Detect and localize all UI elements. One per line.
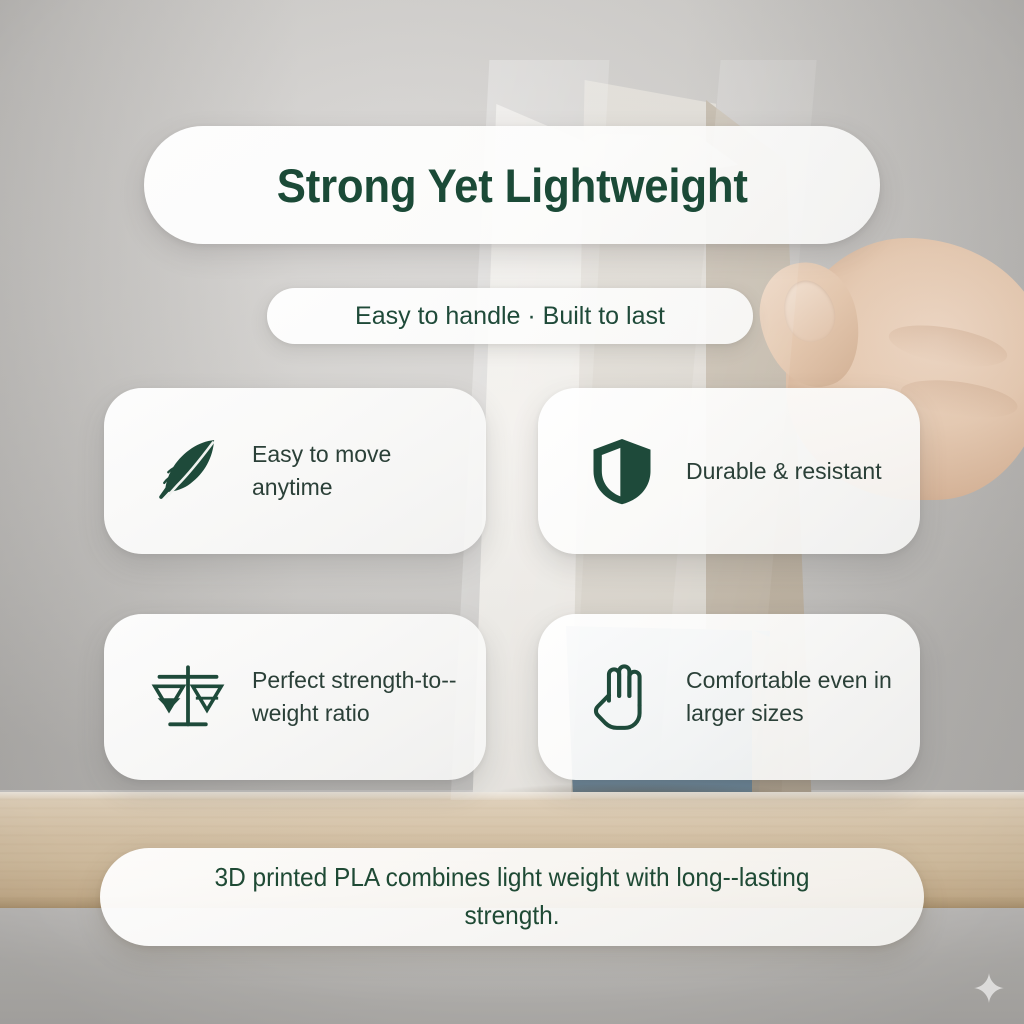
feather-icon bbox=[150, 433, 226, 509]
caption-pill: 3D printed PLA combines light weight wit… bbox=[100, 848, 924, 946]
shield-icon bbox=[584, 433, 660, 509]
hand-icon bbox=[584, 659, 660, 735]
poster-canvas: Strong Yet Lightweight Easy to handle · … bbox=[0, 0, 1024, 1024]
feature-label: Comfortable even in larger sizes bbox=[686, 664, 898, 729]
feature-card-easy-to-move[interactable]: Easy to move anytime bbox=[104, 388, 486, 554]
title-pill: Strong Yet Lightweight bbox=[144, 126, 880, 244]
page-title: Strong Yet Lightweight bbox=[276, 158, 747, 213]
subtitle-pill: Easy to handle · Built to last bbox=[267, 288, 753, 344]
balance-scale-icon bbox=[150, 659, 226, 735]
feature-card-strength-ratio[interactable]: Perfect strength-to--weight ratio bbox=[104, 614, 486, 780]
feature-label: Perfect strength-to--weight ratio bbox=[252, 664, 464, 729]
sparkle-icon bbox=[972, 972, 1006, 1006]
feature-card-durable[interactable]: Durable & resistant bbox=[538, 388, 920, 554]
feature-label: Easy to move anytime bbox=[252, 438, 464, 503]
page-subtitle: Easy to handle · Built to last bbox=[355, 302, 665, 331]
feature-card-comfortable[interactable]: Comfortable even in larger sizes bbox=[538, 614, 920, 780]
feature-label: Durable & resistant bbox=[686, 455, 882, 488]
overlay-layer: Strong Yet Lightweight Easy to handle · … bbox=[0, 0, 1024, 1024]
caption-text: 3D printed PLA combines light weight wit… bbox=[183, 859, 841, 934]
